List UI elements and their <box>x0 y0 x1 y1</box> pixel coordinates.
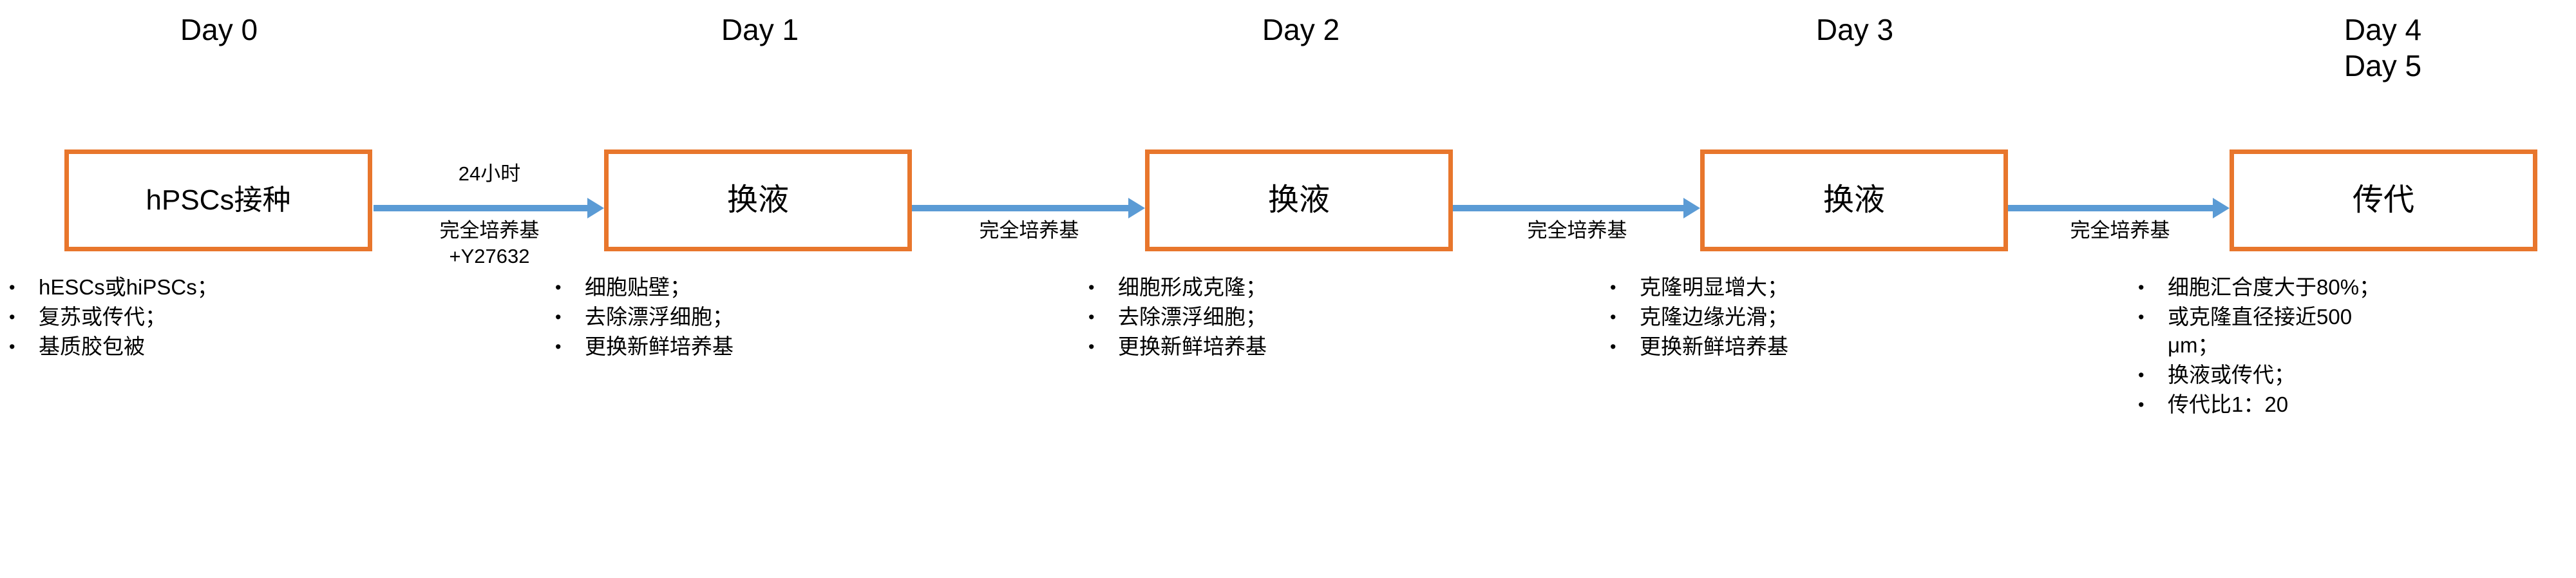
day-header-label: Day 3 <box>1662 12 2048 48</box>
bullet-dot-icon: • <box>9 273 39 302</box>
arrow-head-icon <box>587 198 604 218</box>
flowchart-canvas: Day 0 Day 1 Day 2 Day 3 Day 4 Day 5 hPSC… <box>0 0 2576 578</box>
bullet-dot-icon: • <box>555 303 585 331</box>
bullet-list-day0: • hESCs或hiPSCs； • 复苏或传代； • 基质胶包被 <box>9 273 370 362</box>
bullet-text: 传代比1：20 <box>2168 390 2409 419</box>
bullet-dot-icon: • <box>2138 361 2168 389</box>
bullet-dot-icon: • <box>1610 303 1640 331</box>
bullet-dot-icon: • <box>9 303 39 331</box>
stage-box-label: 换液 <box>1268 182 1330 218</box>
bullet-list-day4-day5: • 细胞汇合度大于80%； • 或克隆直径接近500 μm； • 换液或传代； … <box>2138 273 2409 420</box>
bullet-text: 去除漂浮细胞； <box>1118 303 1449 331</box>
list-item: • 更换新鲜培养基 <box>1088 332 1449 361</box>
connector-caption-text-line1: 完全培养基 <box>2018 218 2222 244</box>
arrow-day1-to-day2 <box>912 205 1145 211</box>
day-header-label: Day 2 <box>1108 12 1494 48</box>
connector-caption-text-line2: +Y27632 <box>386 244 592 269</box>
arrow-shaft <box>2008 205 2213 211</box>
bullet-text: 换液或传代； <box>2168 361 2409 389</box>
connector-caption-text-line1: 完全培养基 <box>925 218 1133 244</box>
arrow-shaft <box>912 205 1128 211</box>
bullet-list-day3: • 克隆明显增大； • 克隆边缘光滑； • 更换新鲜培养基 <box>1610 273 1971 362</box>
stage-box-label: 传代 <box>2353 182 2414 218</box>
stage-box-label: 换液 <box>727 182 789 218</box>
list-item: • 去除漂浮细胞； <box>555 303 916 331</box>
bullet-list-day2: • 细胞形成克隆； • 去除漂浮细胞； • 更换新鲜培养基 <box>1088 273 1449 362</box>
arrow-day0-to-day1 <box>374 205 604 211</box>
bullet-text: hESCs或hiPSCs； <box>39 273 370 302</box>
list-item: • 更换新鲜培养基 <box>1610 332 1971 361</box>
arrow-day3-to-day4 <box>2008 205 2230 211</box>
stage-box-day4-day5[interactable]: 传代 <box>2230 149 2537 251</box>
bullet-dot-icon: • <box>9 332 39 361</box>
bullet-dot-icon: • <box>555 273 585 302</box>
list-item: • 基质胶包被 <box>9 332 370 361</box>
list-item: • 更换新鲜培养基 <box>555 332 916 361</box>
stage-box-day1[interactable]: 换液 <box>604 149 912 251</box>
connector-caption-below-day2-day3: 完全培养基 <box>1468 218 1686 244</box>
arrow-shaft <box>1453 205 1683 211</box>
bullet-text: 细胞形成克隆； <box>1118 273 1449 302</box>
day-header-day0: Day 0 <box>26 12 412 48</box>
arrow-shaft <box>374 205 587 211</box>
day-header-day2: Day 2 <box>1108 12 1494 48</box>
bullet-dot-icon: • <box>555 332 585 361</box>
list-item: • 换液或传代； <box>2138 361 2409 389</box>
bullet-dot-icon: • <box>1610 273 1640 302</box>
bullet-text: 或克隆直径接近500 μm； <box>2168 303 2409 360</box>
bullet-text: 更换新鲜培养基 <box>585 332 916 361</box>
list-item: • 细胞形成克隆； <box>1088 273 1449 302</box>
bullet-dot-icon: • <box>1088 273 1118 302</box>
arrow-head-icon <box>1128 198 1145 218</box>
day-header-day1: Day 1 <box>567 12 953 48</box>
list-item: • 克隆边缘光滑； <box>1610 303 1971 331</box>
list-item: • hESCs或hiPSCs； <box>9 273 370 302</box>
list-item: • 细胞贴壁； <box>555 273 916 302</box>
stage-box-label: hPSCs接种 <box>146 182 291 218</box>
bullet-dot-icon: • <box>1088 303 1118 331</box>
bullet-dot-icon: • <box>2138 273 2168 302</box>
bullet-list-day1: • 细胞贴壁； • 去除漂浮细胞； • 更换新鲜培养基 <box>555 273 916 362</box>
connector-caption-below-day3-day4: 完全培养基 <box>2018 218 2222 244</box>
bullet-text: 复苏或传代； <box>39 303 370 331</box>
list-item: • 传代比1：20 <box>2138 390 2409 419</box>
day-header-label: Day 0 <box>26 12 412 48</box>
bullet-text: 基质胶包被 <box>39 332 370 361</box>
list-item: • 克隆明显增大； <box>1610 273 1971 302</box>
connector-caption-text: 24小时 <box>459 162 520 185</box>
day-header-day4-day5: Day 4 Day 5 <box>2190 12 2576 84</box>
bullet-text: 更换新鲜培养基 <box>1118 332 1449 361</box>
bullet-text: 更换新鲜培养基 <box>1640 332 1971 361</box>
list-item: • 细胞汇合度大于80%； <box>2138 273 2409 302</box>
bullet-text: 去除漂浮细胞； <box>585 303 916 331</box>
bullet-dot-icon: • <box>1088 332 1118 361</box>
bullet-text: 克隆明显增大； <box>1640 273 1971 302</box>
connector-caption-above-day0-day1: 24小时 <box>386 161 592 187</box>
day-header-label-day4: Day 4 <box>2190 12 2576 48</box>
stage-box-day3[interactable]: 换液 <box>1700 149 2008 251</box>
list-item: • 复苏或传代； <box>9 303 370 331</box>
connector-caption-below-day1-day2: 完全培养基 <box>925 218 1133 244</box>
day-header-label-day5: Day 5 <box>2190 48 2576 84</box>
list-item: • 或克隆直径接近500 μm； <box>2138 303 2409 360</box>
list-item: • 去除漂浮细胞； <box>1088 303 1449 331</box>
bullet-dot-icon: • <box>1610 332 1640 361</box>
arrow-head-icon <box>1683 198 1700 218</box>
connector-caption-text-line1: 完全培养基 <box>1468 218 1686 244</box>
day-header-label: Day 1 <box>567 12 953 48</box>
bullet-text: 细胞贴壁； <box>585 273 916 302</box>
bullet-dot-icon: • <box>2138 390 2168 419</box>
arrow-head-icon <box>2213 198 2230 218</box>
bullet-dot-icon: • <box>2138 303 2168 331</box>
bullet-text: 克隆边缘光滑； <box>1640 303 1971 331</box>
bullet-text: 细胞汇合度大于80%； <box>2168 273 2409 302</box>
stage-box-label: 换液 <box>1823 182 1885 218</box>
day-header-day3: Day 3 <box>1662 12 2048 48</box>
connector-caption-text-line1: 完全培养基 <box>386 218 592 244</box>
stage-box-day2[interactable]: 换液 <box>1145 149 1453 251</box>
stage-box-day0[interactable]: hPSCs接种 <box>64 149 372 251</box>
connector-caption-below-day0-day1: 完全培养基 +Y27632 <box>386 218 592 269</box>
arrow-day2-to-day3 <box>1453 205 1700 211</box>
